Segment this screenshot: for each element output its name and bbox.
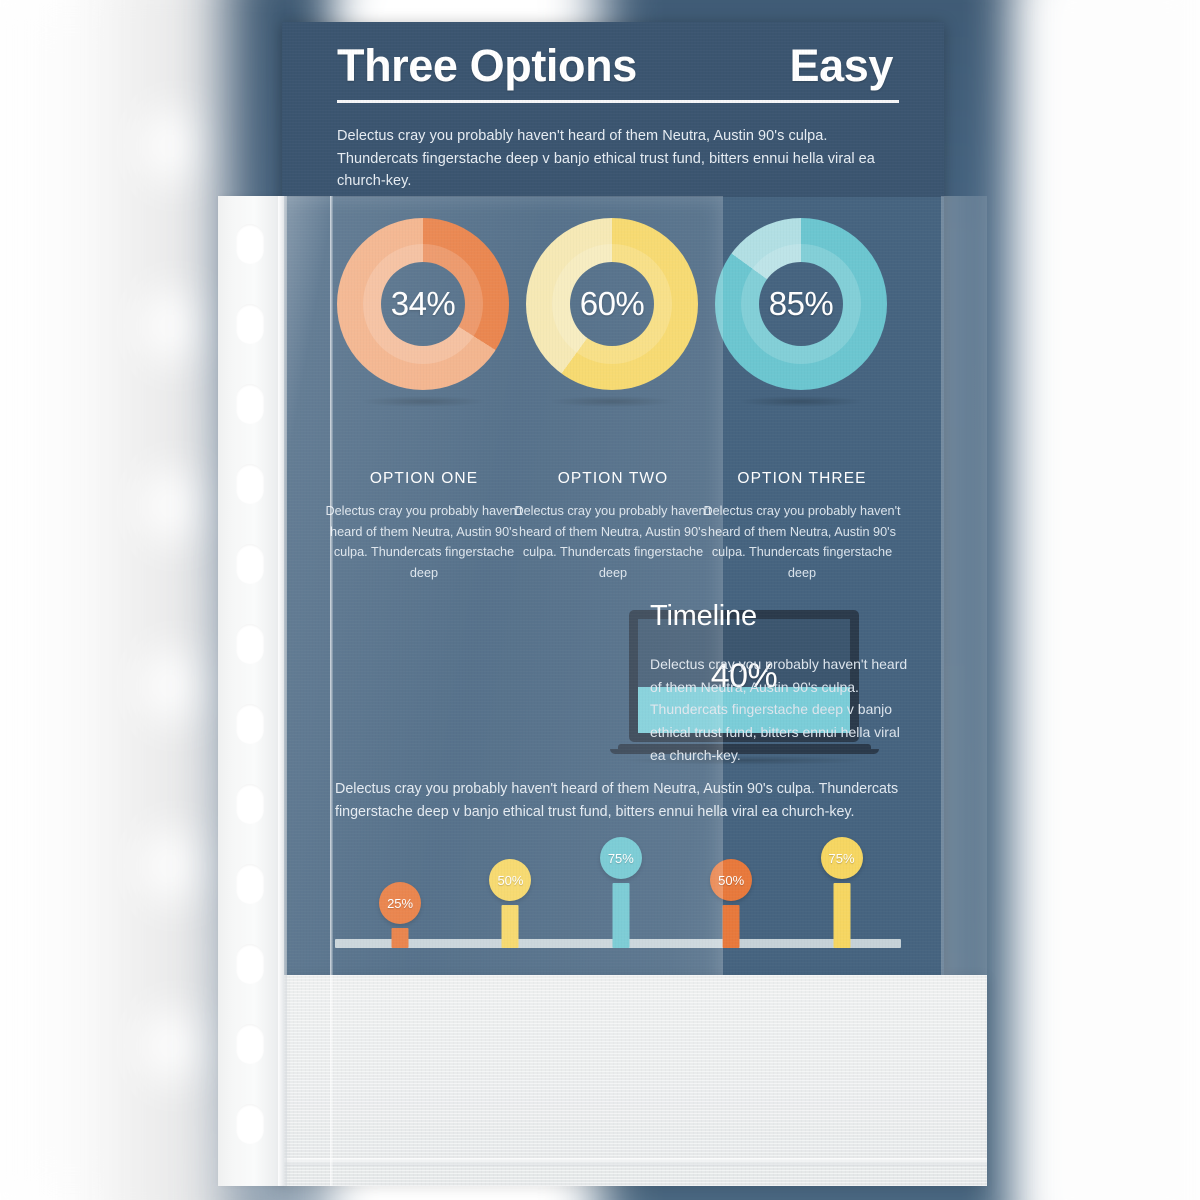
title-divider bbox=[337, 100, 899, 103]
timeline-bar-3 bbox=[612, 883, 629, 948]
page-title-accent: Easy bbox=[790, 42, 900, 89]
timeline-bar-1 bbox=[392, 928, 409, 948]
timeline-bar-5 bbox=[833, 883, 850, 948]
photograph: Three Options Easy Delectus cray you pro… bbox=[0, 0, 1200, 1200]
poster-header: Three Options Easy Delectus cray you pro… bbox=[282, 22, 944, 197]
punch-hole-4 bbox=[236, 464, 264, 504]
timeline-bubble-3: 75% bbox=[600, 837, 642, 879]
donut-value-three: 85% bbox=[715, 218, 887, 390]
punch-hole-5 bbox=[236, 544, 264, 584]
header-paragraph: Delectus cray you probably haven't heard… bbox=[337, 125, 892, 192]
infographic-poster: Three Options Easy Delectus cray you pro… bbox=[282, 22, 944, 975]
option-two-title: OPTION TWO bbox=[513, 470, 713, 488]
sleeve-binding-strip bbox=[218, 196, 284, 1186]
page-title: Three Options bbox=[337, 42, 637, 89]
sleeve-bottom-edge bbox=[273, 1158, 987, 1166]
punch-hole-3 bbox=[236, 384, 264, 424]
punch-hole-7 bbox=[236, 704, 264, 744]
sleeve-right-edge bbox=[941, 196, 987, 975]
timeline-bar-2 bbox=[502, 905, 519, 948]
punch-hole-10 bbox=[236, 944, 264, 984]
donut-chart-row: 34% 60% 85% bbox=[282, 218, 944, 418]
donut-shadow-three bbox=[739, 396, 863, 407]
punch-hole-6 bbox=[236, 624, 264, 664]
option-three: OPTION THREE Delectus cray you probably … bbox=[702, 470, 902, 583]
option-one-title: OPTION ONE bbox=[324, 470, 524, 488]
sleeve-lower-panel bbox=[273, 975, 987, 1186]
donut-chart-three: 85% bbox=[715, 218, 890, 418]
timeline-text-block: Timeline Delectus cray you probably have… bbox=[650, 600, 918, 766]
timeline-paragraph: Delectus cray you probably haven't heard… bbox=[650, 653, 918, 766]
timeline-bar-4 bbox=[723, 905, 740, 948]
timeline-heading: Timeline bbox=[650, 600, 918, 633]
punch-hole-11 bbox=[236, 1024, 264, 1064]
timeline-bubble-4: 50% bbox=[710, 859, 752, 901]
punch-hole-8 bbox=[236, 784, 264, 824]
punch-hole-12 bbox=[236, 1104, 264, 1144]
timeline-bubble-5: 75% bbox=[821, 837, 863, 879]
timeline-bubble-1: 25% bbox=[379, 882, 421, 924]
timeline-bubble-2: 50% bbox=[489, 859, 531, 901]
option-two: OPTION TWO Delectus cray you probably ha… bbox=[513, 470, 713, 583]
donut-chart-two: 60% bbox=[526, 218, 701, 418]
option-three-body: Delectus cray you probably haven't heard… bbox=[702, 501, 902, 583]
donut-shadow-two bbox=[550, 396, 674, 407]
timeline-bar-chart: 25% 50% 75% 50% 75% bbox=[335, 840, 901, 950]
option-one-body: Delectus cray you probably haven't heard… bbox=[324, 501, 524, 583]
punch-hole-2 bbox=[236, 304, 264, 344]
option-one: OPTION ONE Delectus cray you probably ha… bbox=[324, 470, 524, 583]
option-two-body: Delectus cray you probably haven't heard… bbox=[513, 501, 713, 583]
donut-value-two: 60% bbox=[526, 218, 698, 390]
donut-shadow-one bbox=[361, 396, 485, 407]
punch-hole-1 bbox=[236, 224, 264, 264]
option-three-title: OPTION THREE bbox=[702, 470, 902, 488]
donut-value-one: 34% bbox=[337, 218, 509, 390]
bottom-paragraph: Delectus cray you probably haven't heard… bbox=[335, 778, 901, 824]
donut-chart-one: 34% bbox=[337, 218, 512, 418]
punch-hole-9 bbox=[236, 864, 264, 904]
